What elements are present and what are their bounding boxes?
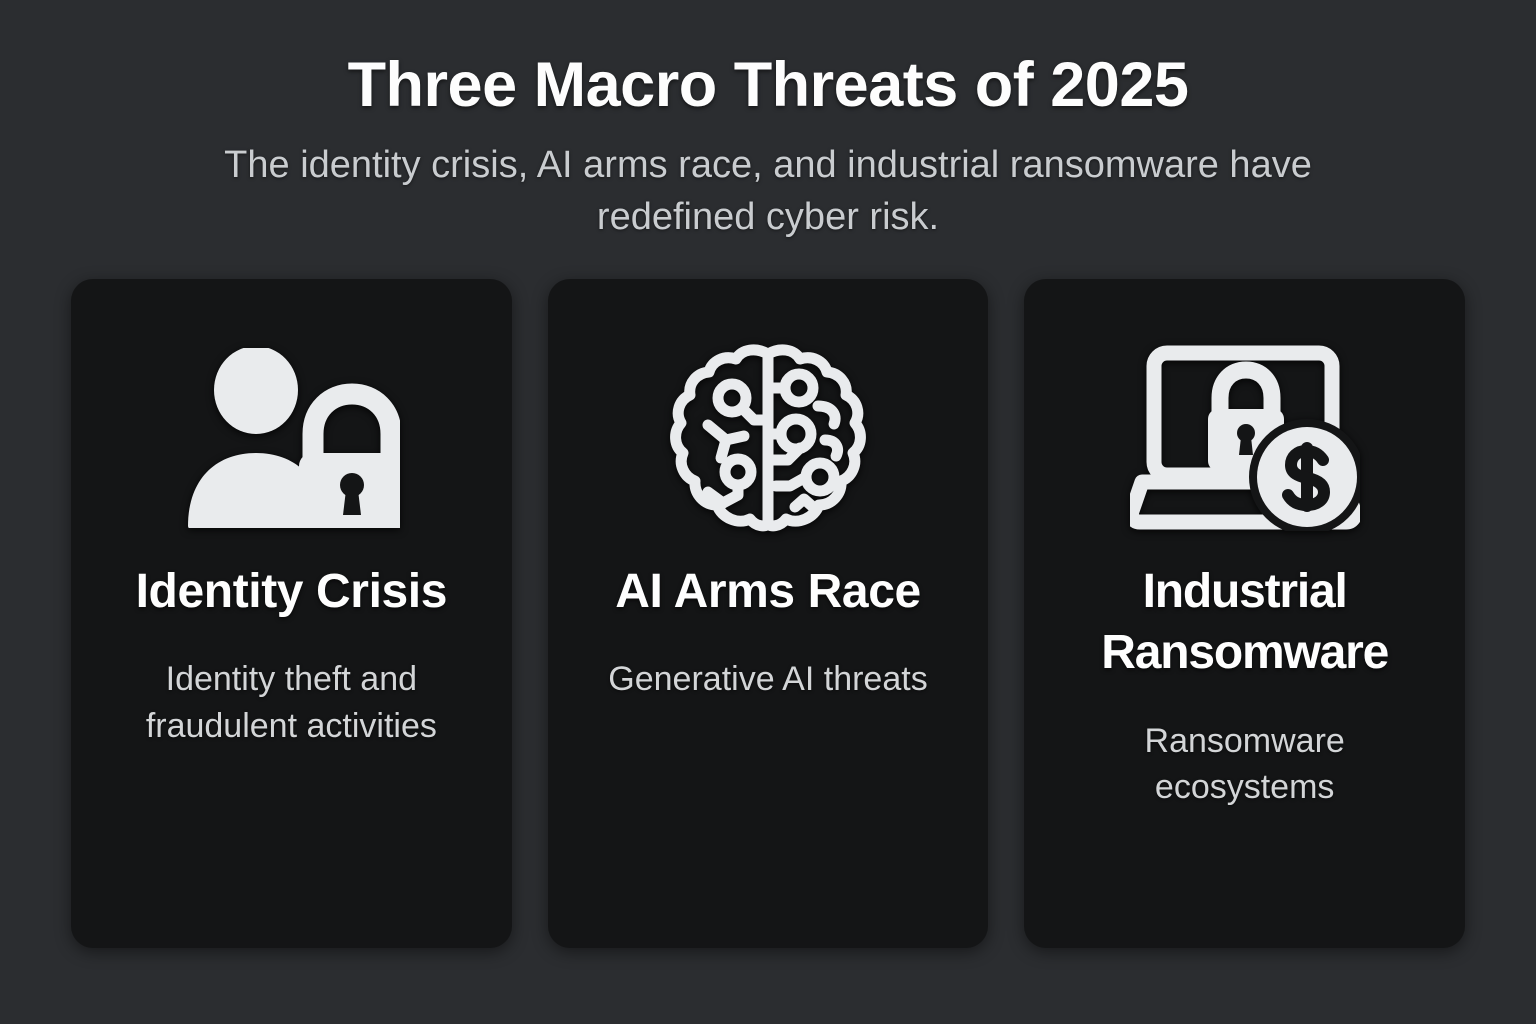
page-title: Three Macro Threats of 2025 [0, 0, 1536, 117]
card-title: Industrial Ransomware [1050, 543, 1439, 684]
user-lock-icon [97, 333, 486, 543]
card-title: Identity Crisis [136, 543, 447, 622]
threat-card-ai-arms-race[interactable]: AI Arms Race Generative AI threats [548, 279, 989, 948]
ai-brain-circuit-icon [574, 333, 963, 543]
threat-card-list: Identity Crisis Identity theft and fraud… [71, 279, 1465, 948]
laptop-lock-dollar-icon [1050, 333, 1439, 543]
card-title: AI Arms Race [615, 543, 921, 622]
card-description: Identity theft and fraudulent activities [97, 622, 486, 748]
infographic-page: Three Macro Threats of 2025 The identity… [0, 0, 1536, 1024]
card-description: Ransomware ecosystems [1050, 684, 1439, 810]
card-description: Generative AI threats [608, 622, 927, 702]
header: Three Macro Threats of 2025 The identity… [0, 0, 1536, 244]
threat-card-industrial-ransomware[interactable]: Industrial Ransomware Ransomware ecosyst… [1024, 279, 1465, 948]
threat-card-identity-crisis[interactable]: Identity Crisis Identity theft and fraud… [71, 279, 512, 948]
page-subtitle: The identity crisis, AI arms race, and i… [163, 117, 1373, 244]
